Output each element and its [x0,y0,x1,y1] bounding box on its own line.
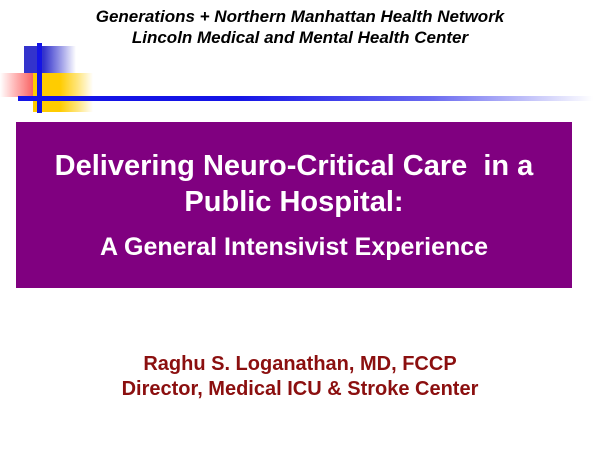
horizontal-rule-icon [18,96,593,101]
slide-subtitle: A General Intensivist Experience [94,231,494,263]
vertical-bar-icon [37,43,42,113]
network-name: Generations + Northern Manhattan Health … [0,6,600,27]
presenter-role: Director, Medical ICU & Stroke Center [0,377,600,402]
title-panel: Delivering Neuro-Critical Care in a Publ… [16,122,572,288]
presenter-block: Raghu S. Loganathan, MD, FCCP Director, … [0,352,600,402]
presenter-name: Raghu S. Loganathan, MD, FCCP [0,352,600,377]
slide-title-line-1: Delivering Neuro-Critical Care in a [49,148,540,184]
logo-graphic [0,40,600,116]
yellow-rectangle-icon [33,73,93,112]
presentation-slide: Generations + Northern Manhattan Health … [0,0,600,450]
slide-title-line-2: Public Hospital: [178,184,409,220]
